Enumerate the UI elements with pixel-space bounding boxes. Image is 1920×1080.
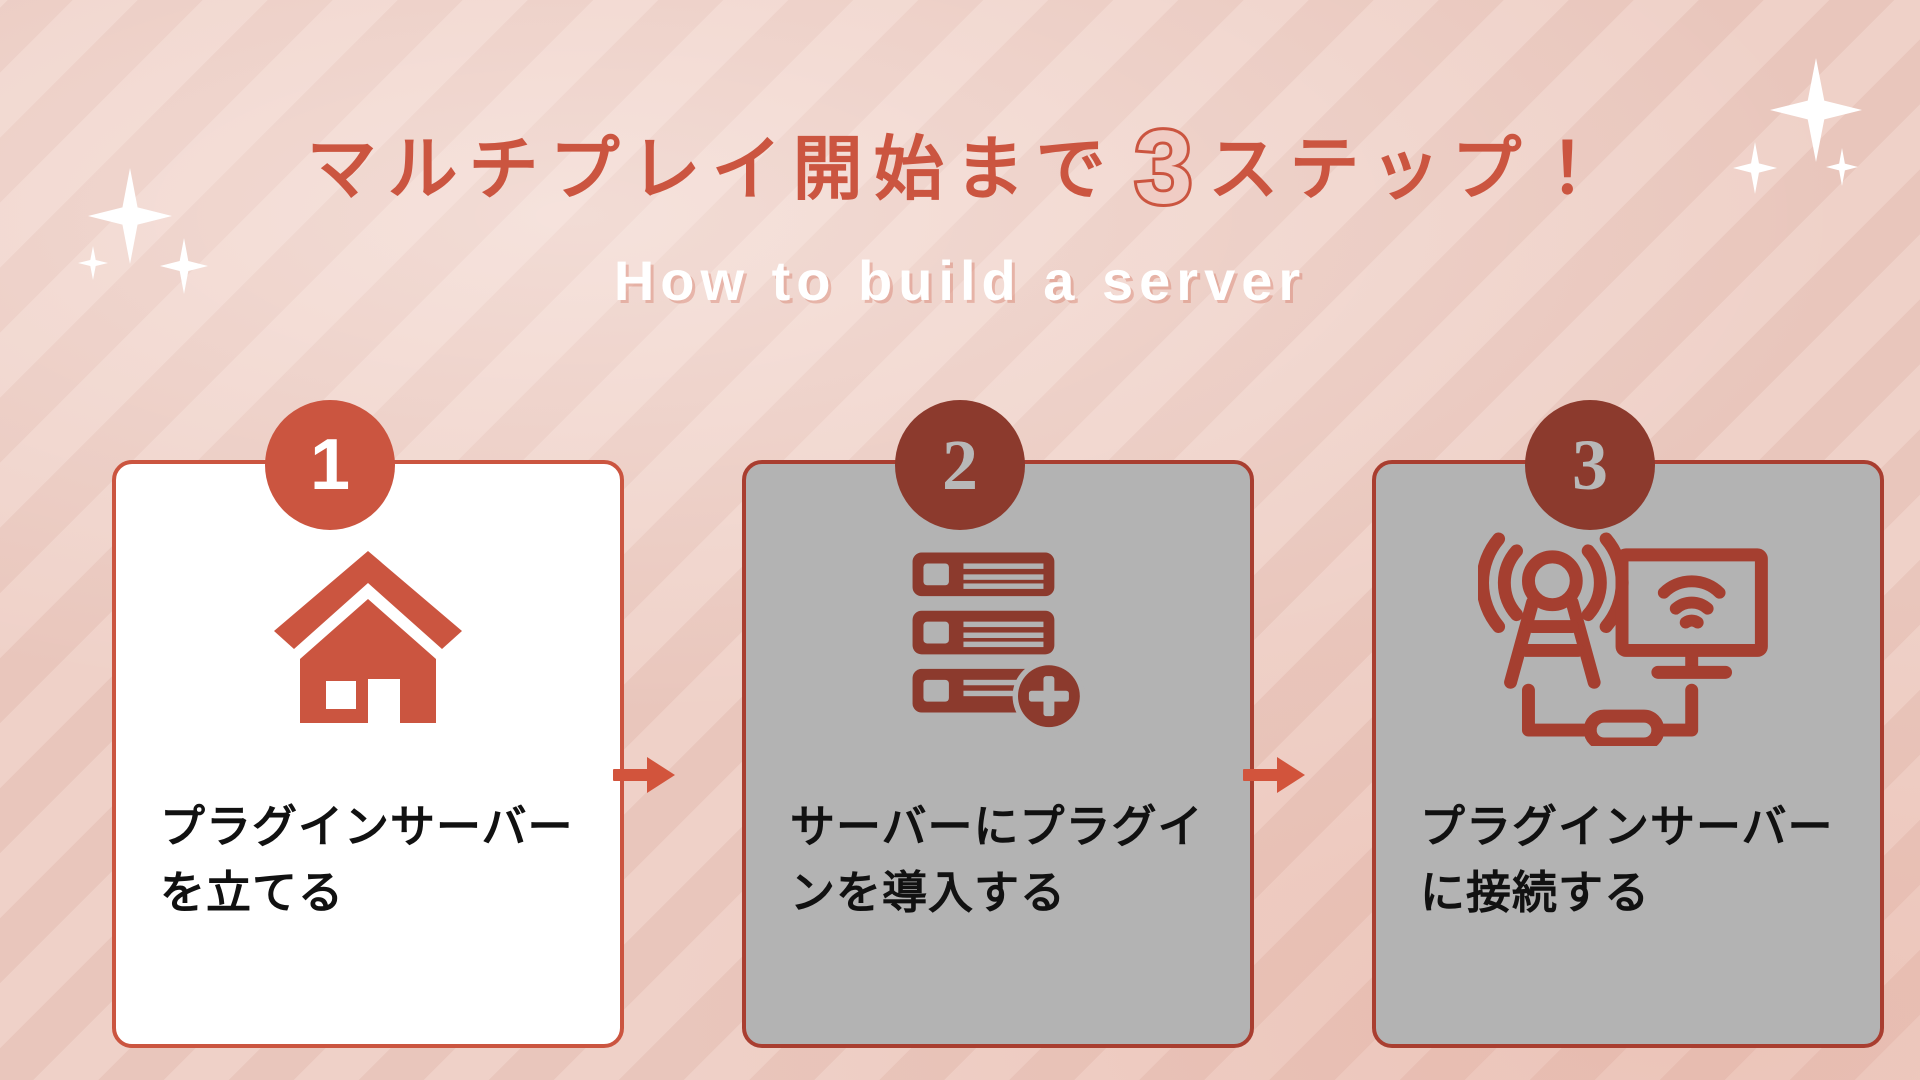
step-card-3[interactable]: プラグインサーバーに接続する 3 bbox=[1334, 400, 1846, 990]
step-card-3-body: プラグインサーバーに接続する bbox=[1372, 460, 1884, 1048]
antenna-tv-wifi-icon bbox=[1478, 531, 1778, 746]
step-2-label: サーバーにプラグインを導入する bbox=[746, 794, 1250, 925]
arrow-right-icon bbox=[613, 755, 677, 795]
step-card-2[interactable]: サーバーにプラグインを導入する 2 bbox=[704, 400, 1216, 990]
step-3-label: プラグインサーバーに接続する bbox=[1376, 794, 1880, 925]
arrow-right-icon bbox=[1243, 755, 1307, 795]
connector-1 bbox=[586, 400, 704, 990]
step-card-1-body: プラグインサーバーを立てる bbox=[112, 460, 624, 1048]
step-1-badge: 1 bbox=[265, 400, 395, 530]
headline-suffix: ステップ！ bbox=[1208, 130, 1613, 208]
step-card-1[interactable]: プラグインサーバーを立てる 1 bbox=[74, 400, 586, 990]
page-title: マルチプレイ開始まで3ステップ！ bbox=[0, 106, 1920, 210]
step-1-label: プラグインサーバーを立てる bbox=[116, 794, 620, 925]
connector-2 bbox=[1216, 400, 1334, 990]
steps-row: プラグインサーバーを立てる 1 bbox=[0, 400, 1920, 1060]
headline-step-count: 3 bbox=[1135, 116, 1195, 220]
step-card-2-body: サーバーにプラグインを導入する bbox=[742, 460, 1254, 1048]
server-stack-add-icon bbox=[898, 538, 1098, 738]
page-subtitle: How to build a server bbox=[0, 248, 1920, 313]
step-2-badge: 2 bbox=[895, 400, 1025, 530]
step-3-badge: 3 bbox=[1525, 400, 1655, 530]
house-icon bbox=[268, 543, 468, 733]
headline-prefix: マルチプレイ開始まで bbox=[307, 130, 1117, 208]
